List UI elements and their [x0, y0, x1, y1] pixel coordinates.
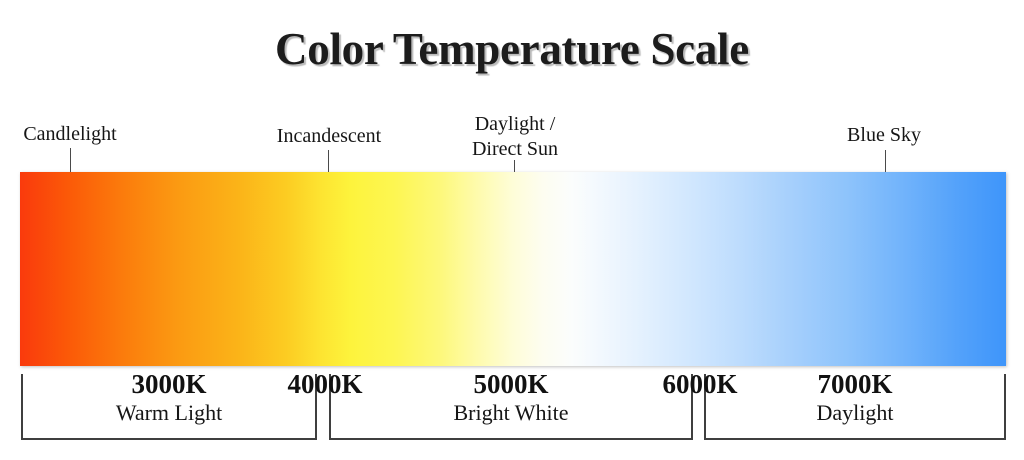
- range-kelvin-3000k: 3000K: [23, 368, 315, 400]
- range-box-daylight: 7000K Daylight: [704, 374, 1006, 440]
- range-description-warm-light: Warm Light: [23, 399, 315, 427]
- tick-blue-sky: [885, 150, 886, 172]
- tick-incandescent: [328, 150, 329, 172]
- range-kelvin-7000k: 7000K: [706, 368, 1004, 400]
- range-box-bright-white: 5000K Bright White: [329, 374, 693, 440]
- range-description-daylight: Daylight: [706, 399, 1004, 427]
- range-description-bright-white: Bright White: [331, 399, 691, 427]
- source-label-daylight-direct-sun: Daylight / Direct Sun: [472, 112, 558, 162]
- range-kelvin-5000k: 5000K: [331, 368, 691, 400]
- tick-candlelight: [70, 148, 71, 172]
- boundary-kelvin-6000k: 6000K: [662, 368, 737, 400]
- source-label-daylight-line2: Direct Sun: [472, 137, 558, 162]
- source-label-daylight-line1: Daylight /: [472, 112, 558, 137]
- source-label-candlelight: Candlelight: [23, 122, 116, 147]
- source-label-blue-sky-line1: Blue Sky: [847, 124, 921, 146]
- source-label-candlelight-line1: Candlelight: [23, 123, 116, 145]
- tick-daylight-direct-sun: [514, 160, 515, 172]
- color-temperature-gradient-bar: [20, 172, 1006, 366]
- range-box-warm-light: 3000K Warm Light: [21, 374, 317, 440]
- boundary-kelvin-4000k: 4000K: [287, 368, 362, 400]
- color-temperature-infographic: Color Temperature Scale Candlelight Inca…: [0, 0, 1024, 460]
- source-label-incandescent: Incandescent: [277, 124, 381, 149]
- source-label-blue-sky: Blue Sky: [847, 123, 921, 148]
- source-label-incandescent-line1: Incandescent: [277, 125, 381, 147]
- page-title: Color Temperature Scale: [0, 22, 1024, 76]
